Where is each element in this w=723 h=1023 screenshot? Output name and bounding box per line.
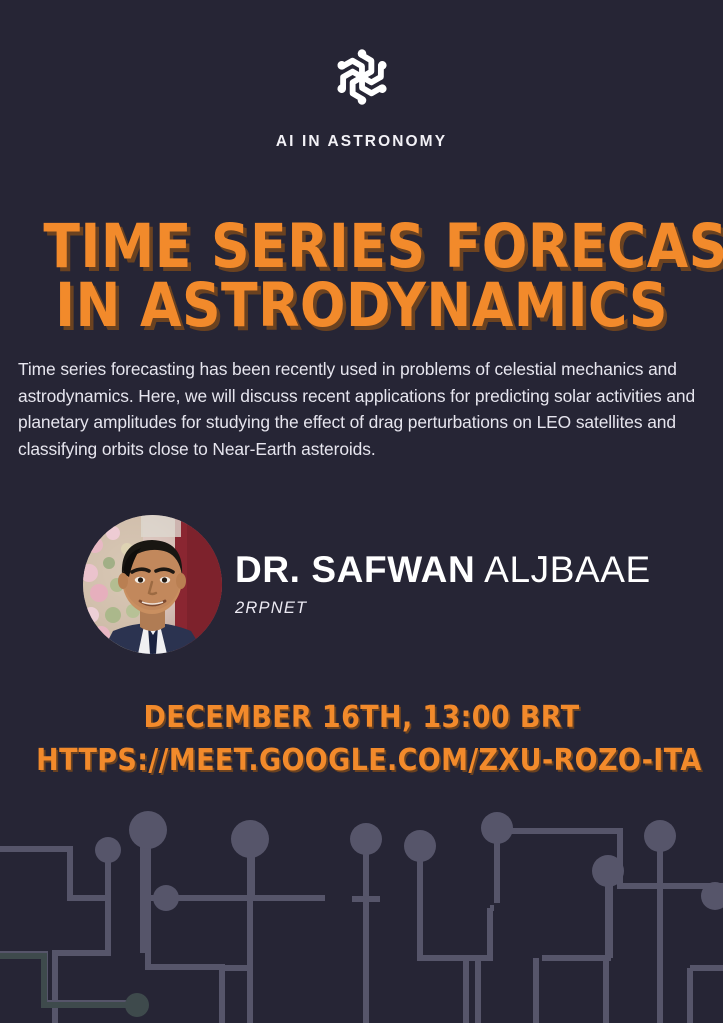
speaker-name: DR. SAFWAN ALJBAAE — [235, 549, 675, 591]
brand-block: AI IN ASTRONOMY — [0, 38, 723, 151]
brand-caption: AI IN ASTRONOMY — [0, 133, 723, 151]
circuit-nodes — [95, 811, 723, 911]
abstract-text: Time series forecasting has been recentl… — [18, 356, 708, 462]
event-details: DECEMBER 16TH, 13:00 BRT HTTPS://MEET.GO… — [36, 697, 687, 782]
speaker-name-bold: DR. SAFWAN — [235, 549, 475, 590]
circuit-traces-svg — [0, 798, 723, 1023]
speaker-affiliation: 2RPNET — [235, 599, 675, 618]
speaker-block: DR. SAFWAN ALJBAAE 2RPNET — [83, 515, 683, 655]
page-title: TIME SERIES FORECASTING IN ASTRODYNAMICS — [43, 217, 679, 335]
avatar — [83, 515, 222, 654]
event-meeting-link[interactable]: HTTPS://MEET.GOOGLE.COM/ZXU-ROZO-ITA — [36, 740, 687, 783]
event-datetime: DECEMBER 16TH, 13:00 BRT — [36, 697, 687, 740]
page-title-line-1: TIME SERIES FORECASTING — [43, 217, 679, 276]
neural-network-logo-icon — [323, 38, 401, 116]
speaker-details: DR. SAFWAN ALJBAAE 2RPNET — [235, 549, 675, 618]
circuit-board-decoration — [0, 798, 723, 1023]
page-title-line-2: IN ASTRODYNAMICS — [43, 276, 679, 335]
speaker-portrait — [83, 515, 222, 654]
seminar-poster: AI IN ASTRONOMY TIME SERIES FORECASTING … — [0, 0, 723, 1023]
speaker-name-light: ALJBAAE — [475, 549, 651, 590]
